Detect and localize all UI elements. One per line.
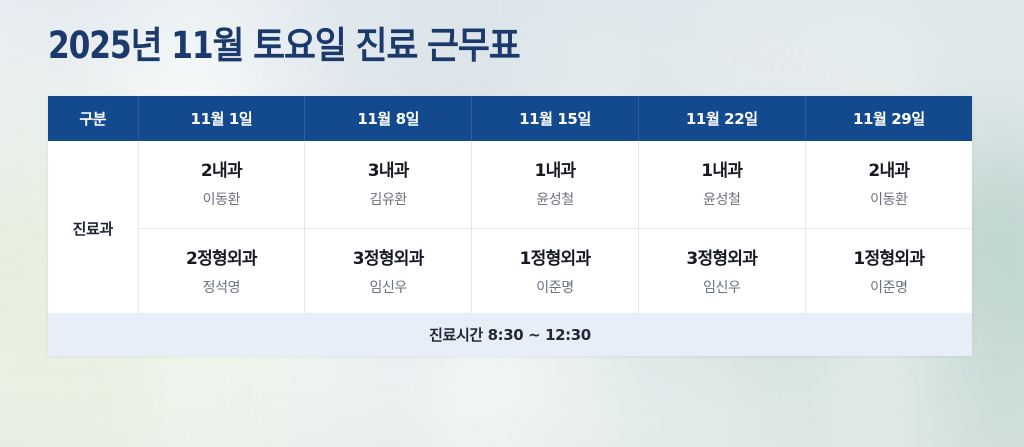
table-cell: 2내과 이동환 bbox=[138, 141, 305, 229]
department-name: 1내과 bbox=[639, 160, 805, 182]
doctor-name: 김유환 bbox=[305, 191, 471, 209]
department-name: 3정형외과 bbox=[639, 248, 805, 270]
table-body: 진료과 2내과 이동환 3내과 김유환 1내과 윤성철 1내과 윤성철 bbox=[48, 141, 972, 316]
column-header-category: 구분 bbox=[48, 96, 138, 141]
table-cell: 3정형외과 임신우 bbox=[305, 229, 472, 317]
table-cell: 1내과 윤성철 bbox=[638, 141, 805, 229]
department-name: 3정형외과 bbox=[305, 248, 471, 270]
doctor-name: 정석영 bbox=[139, 279, 305, 297]
column-header-nov-15: 11월 15일 bbox=[472, 96, 639, 141]
column-header-nov-08: 11월 8일 bbox=[305, 96, 472, 141]
column-header-nov-22: 11월 22일 bbox=[638, 96, 805, 141]
doctor-name: 임신우 bbox=[305, 279, 471, 297]
department-name: 1내과 bbox=[472, 160, 638, 182]
table-row: 진료과 2내과 이동환 3내과 김유환 1내과 윤성철 1내과 윤성철 bbox=[48, 141, 972, 229]
table-cell: 3정형외과 임신우 bbox=[638, 229, 805, 317]
table-row: 2정형외과 정석영 3정형외과 임신우 1정형외과 이준명 3정형외과 임신우 … bbox=[48, 229, 972, 317]
doctor-name: 이준명 bbox=[806, 279, 972, 297]
doctor-name: 이동환 bbox=[139, 191, 305, 209]
table-cell: 1정형외과 이준명 bbox=[472, 229, 639, 317]
department-name: 2정형외과 bbox=[139, 248, 305, 270]
department-name: 3내과 bbox=[305, 160, 471, 182]
department-name: 2내과 bbox=[139, 160, 305, 182]
clinic-hours-text: 진료시간 8:30 ~ 12:30 bbox=[429, 324, 591, 345]
doctor-name: 임신우 bbox=[639, 279, 805, 297]
doctor-name: 이준명 bbox=[472, 279, 638, 297]
row-label-department: 진료과 bbox=[48, 141, 138, 316]
department-name: 2내과 bbox=[806, 160, 972, 182]
column-header-nov-29: 11월 29일 bbox=[805, 96, 972, 141]
table-cell: 1정형외과 이준명 bbox=[805, 229, 972, 317]
page-title: 2025년 11월 토요일 진료 근무표 bbox=[48, 24, 520, 68]
table-header: 구분 11월 1일 11월 8일 11월 15일 11월 22일 11월 29일 bbox=[48, 96, 972, 141]
table-cell: 2정형외과 정석영 bbox=[138, 229, 305, 317]
table-cell: 1내과 윤성철 bbox=[472, 141, 639, 229]
table-cell: 3내과 김유환 bbox=[305, 141, 472, 229]
department-name: 1정형외과 bbox=[472, 248, 638, 270]
table-header-row: 구분 11월 1일 11월 8일 11월 15일 11월 22일 11월 29일 bbox=[48, 96, 972, 141]
doctor-name: 윤성철 bbox=[639, 191, 805, 209]
doctor-name: 이동환 bbox=[806, 191, 972, 209]
saturday-clinic-schedule-table: 구분 11월 1일 11월 8일 11월 15일 11월 22일 11월 29일… bbox=[48, 96, 972, 317]
column-header-nov-01: 11월 1일 bbox=[138, 96, 305, 141]
department-name: 1정형외과 bbox=[806, 248, 972, 270]
clinic-hours-bar: 진료시간 8:30 ~ 12:30 bbox=[48, 313, 972, 356]
doctor-name: 윤성철 bbox=[472, 191, 638, 209]
table-cell: 2내과 이동환 bbox=[805, 141, 972, 229]
